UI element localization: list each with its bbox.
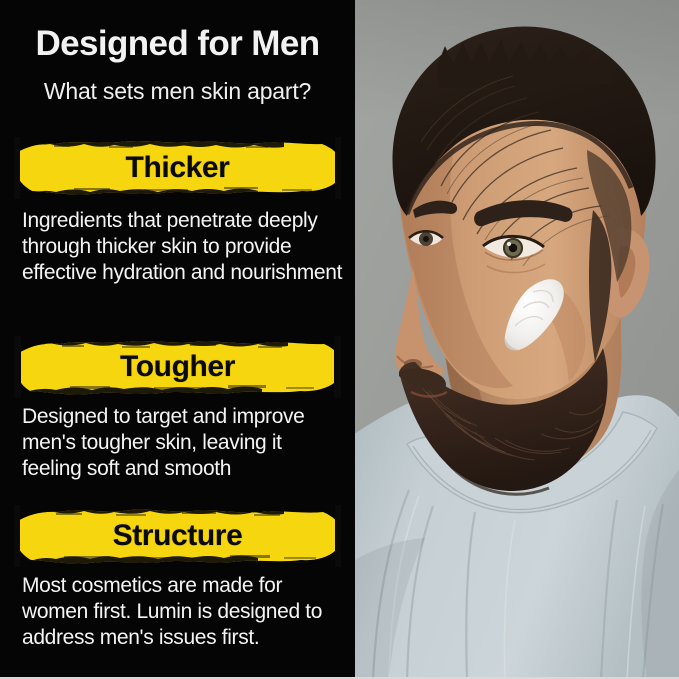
text-panel: Designed for Men What sets men skin apar… (0, 0, 355, 679)
body-text-thicker: Ingredients that penetrate deeply throug… (22, 208, 344, 286)
highlight-band-structure: Structure (14, 505, 341, 567)
product-benefits-card: Designed for Men What sets men skin apar… (0, 0, 679, 679)
page-subtitle: What sets men skin apart? (0, 78, 355, 105)
band-label-tougher: Tougher (14, 336, 341, 398)
page-title: Designed for Men (0, 26, 355, 63)
band-label-structure: Structure (14, 505, 341, 567)
product-model-photo (355, 0, 679, 679)
band-label-thicker: Thicker (14, 137, 341, 199)
body-text-structure: Most cosmetics are made for women first.… (22, 573, 344, 651)
highlight-band-tougher: Tougher (14, 336, 341, 398)
highlight-band-thicker: Thicker (14, 137, 341, 199)
body-text-tougher: Designed to target and improve men's tou… (22, 404, 344, 482)
model-portrait-illustration (355, 0, 679, 679)
